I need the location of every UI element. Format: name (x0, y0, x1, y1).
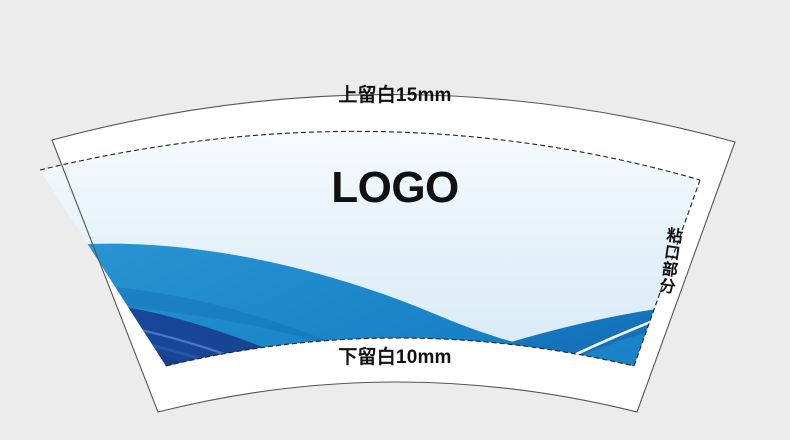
bottom-margin-label: 下留白10mm (0, 342, 790, 369)
diecut-canvas: 上留白15mm 下留白10mm LOGO 粘 口 部 分 (0, 0, 790, 440)
fan-template-svg (0, 0, 790, 440)
top-margin-label: 上留白15mm (0, 80, 790, 107)
logo-placeholder: LOGO (0, 163, 790, 213)
glue-flap-char-4: 分 (657, 278, 677, 297)
